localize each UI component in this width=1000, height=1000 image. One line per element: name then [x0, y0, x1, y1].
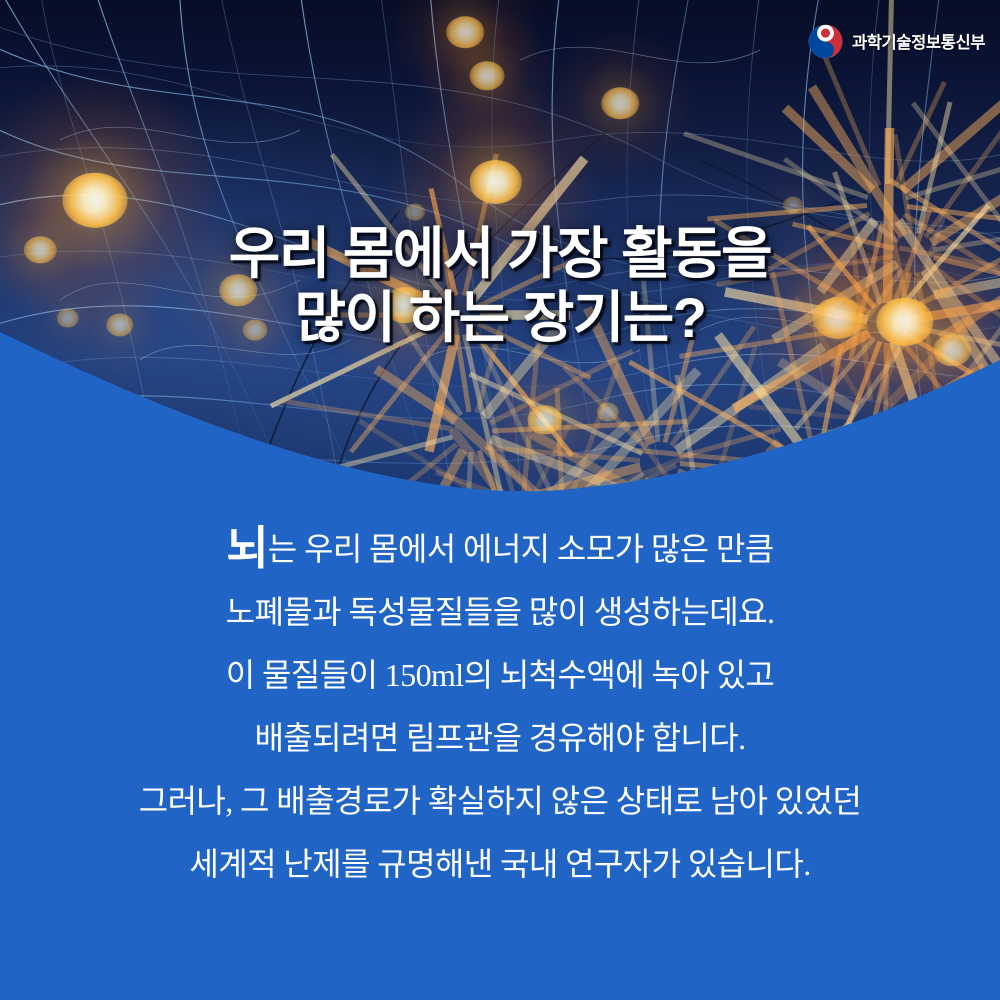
taegeuk-emblem-icon: [808, 24, 843, 59]
body-line-6: 세계적 난제를 규명해낸 국내 연구자가 있습니다.: [0, 833, 1000, 896]
title-line-1: 우리 몸에서 가장 활동을: [0, 222, 1000, 286]
body-line-2: 노폐물과 독성물질들을 많이 생성하는데요.: [0, 581, 1000, 644]
title-line-2: 많이 하는 장기는?: [0, 286, 1000, 350]
infographic-card: 과학기술정보통신부 우리 몸에서 가장 활동을 많이 하는 장기는? 뇌는 우리…: [0, 0, 1000, 1000]
page-title: 우리 몸에서 가장 활동을 많이 하는 장기는?: [0, 222, 1000, 350]
body-line-3: 이 물질들이 150ml의 뇌척수액에 녹아 있고: [0, 644, 1000, 707]
body-line-4: 배출되려면 림프관을 경유해야 합니다.: [0, 707, 1000, 770]
body-line-1-rest: 는 우리 몸에서 에너지 소모가 많은 만큼: [268, 531, 774, 567]
ministry-logo: 과학기술정보통신부: [808, 22, 985, 60]
body-line-5: 그러나, 그 배출경로가 확실하지 않은 상태로 남아 있었던: [0, 770, 1000, 833]
ministry-name-label: 과학기술정보통신부: [852, 29, 985, 53]
body-text: 뇌는 우리 몸에서 에너지 소모가 많은 만큼 노폐물과 독성물질들을 많이 생…: [0, 518, 1000, 896]
body-line-1: 뇌는 우리 몸에서 에너지 소모가 많은 만큼: [0, 518, 1000, 581]
lead-word: 뇌: [226, 522, 267, 574]
